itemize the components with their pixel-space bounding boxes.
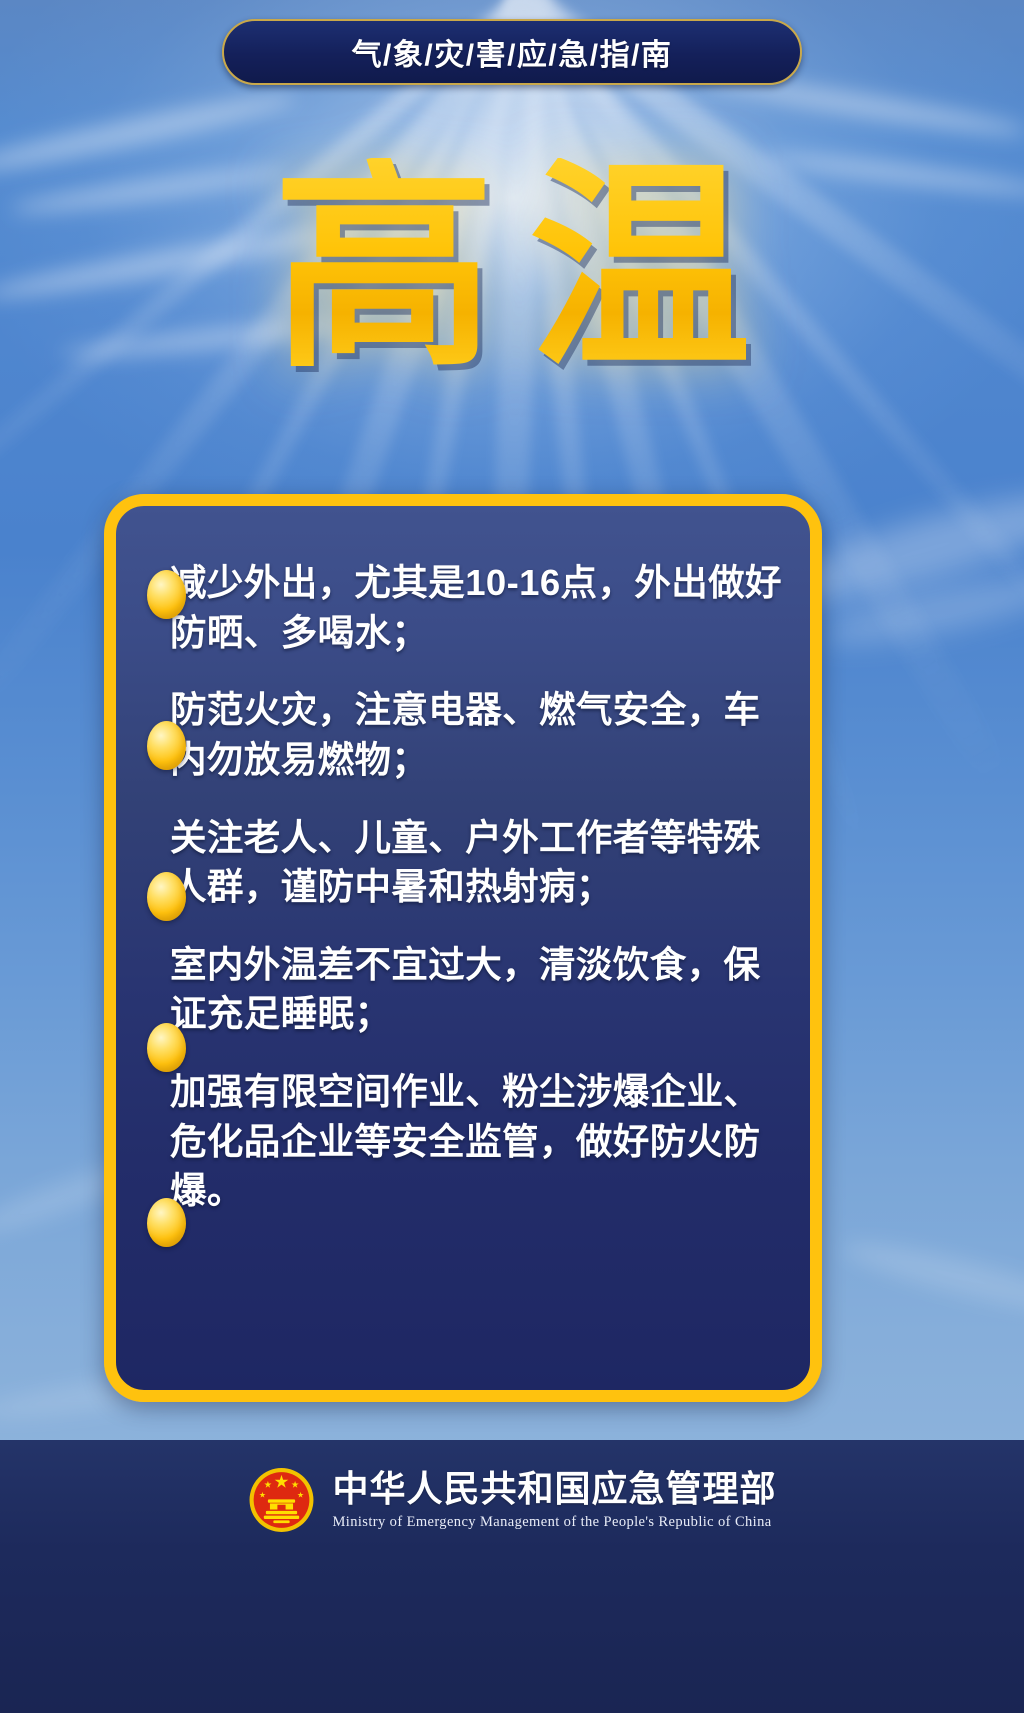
ministry-name-en: Ministry of Emergency Management of the … bbox=[332, 1514, 771, 1531]
list-item: 防范火灾，注意电器、燃气安全，车内勿放易燃物； bbox=[170, 685, 788, 784]
bullet-dot-icon bbox=[147, 721, 186, 770]
advice-list: 减少外出，尤其是10-16点，外出做好防晒、多喝水； 防范火灾，注意电器、燃气安… bbox=[170, 558, 788, 1216]
national-emblem-icon bbox=[247, 1466, 315, 1534]
bullet-dot-icon bbox=[147, 570, 186, 619]
advice-text: 加强有限空间作业、粉尘涉爆企业、危化品企业等安全监管，做好防火防爆。 bbox=[170, 1071, 760, 1211]
bullet-dot-icon bbox=[147, 1023, 186, 1072]
header-banner-text: 气/象/灾/害/应/急/指/南 bbox=[352, 30, 673, 74]
ministry-name-cn: 中华人民共和国应急管理部 bbox=[332, 1469, 776, 1509]
footer-inner: 中华人民共和国应急管理部 Ministry of Emergency Manag… bbox=[247, 1466, 776, 1534]
footer: 中华人民共和国应急管理部 Ministry of Emergency Manag… bbox=[0, 1440, 1024, 1713]
poster-root: 气/象/灾/害/应/急/指/南 高温 减少外出，尤其是10-16点，外出做好防晒… bbox=[0, 0, 1024, 1713]
list-item: 加强有限空间作业、粉尘涉爆企业、危化品企业等安全监管，做好防火防爆。 bbox=[170, 1067, 788, 1216]
page-title: 高温 bbox=[0, 158, 1024, 380]
list-item: 关注老人、儿童、户外工作者等特殊人群，谨防中暑和热射病； bbox=[170, 813, 788, 912]
bullet-dot-icon bbox=[147, 872, 186, 921]
advice-text: 防范火灾，注意电器、燃气安全，车内勿放易燃物； bbox=[170, 689, 760, 780]
advice-text: 关注老人、儿童、户外工作者等特殊人群，谨防中暑和热射病； bbox=[170, 817, 760, 908]
advice-text: 室内外温差不宜过大，清淡饮食，保证充足睡眠； bbox=[170, 944, 760, 1035]
ministry-block: 中华人民共和国应急管理部 Ministry of Emergency Manag… bbox=[332, 1469, 776, 1531]
header-banner: 气/象/灾/害/应/急/指/南 bbox=[222, 19, 802, 85]
list-item: 室内外温差不宜过大，清淡饮食，保证充足睡眠； bbox=[170, 940, 788, 1039]
advice-card: 减少外出，尤其是10-16点，外出做好防晒、多喝水； 防范火灾，注意电器、燃气安… bbox=[104, 494, 822, 1402]
advice-text: 减少外出，尤其是10-16点，外出做好防晒、多喝水； bbox=[170, 562, 782, 653]
bullet-dot-icon bbox=[147, 1198, 186, 1247]
list-item: 减少外出，尤其是10-16点，外出做好防晒、多喝水； bbox=[170, 558, 788, 657]
